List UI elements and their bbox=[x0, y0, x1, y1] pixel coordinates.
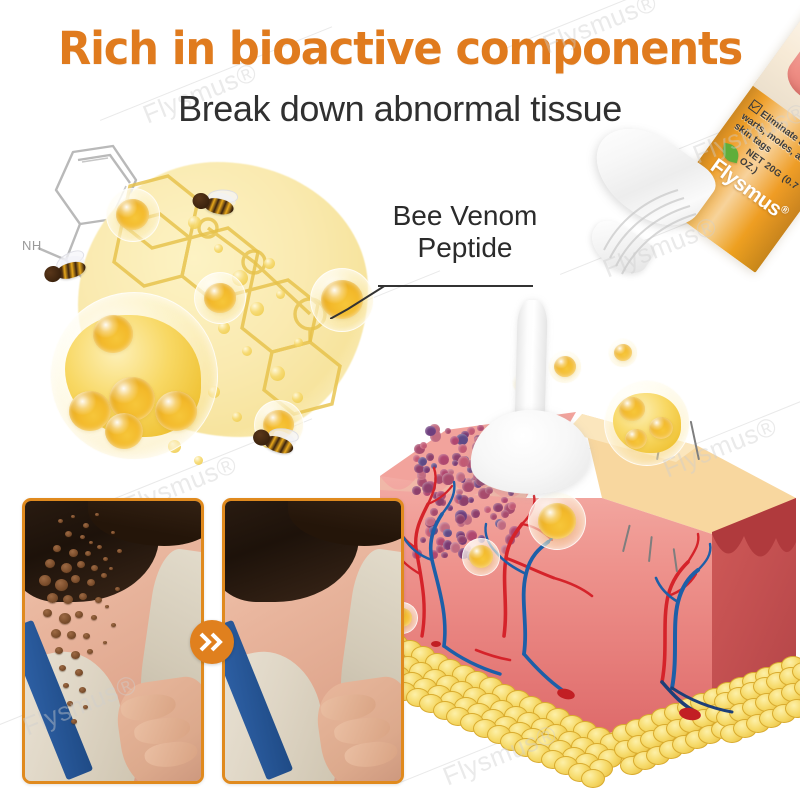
skin-lesion bbox=[39, 575, 51, 586]
skin-lesion bbox=[111, 623, 116, 627]
double-chevron-right-icon bbox=[199, 632, 225, 652]
honey-droplet bbox=[194, 456, 203, 465]
skin-lesion bbox=[87, 579, 95, 586]
skin-lesion bbox=[111, 531, 115, 534]
skin-lesion bbox=[77, 561, 85, 568]
abnormal-cell bbox=[425, 517, 435, 527]
callout-underline bbox=[378, 285, 533, 287]
skin-lesion bbox=[75, 669, 83, 676]
abnormal-cell bbox=[447, 505, 454, 512]
abnormal-cell bbox=[443, 529, 452, 538]
product-infographic: Flysmus®Flysmus®Flysmus®Flysmus®Flysmus®… bbox=[0, 0, 800, 800]
abnormal-cell bbox=[508, 502, 516, 510]
abnormal-cell bbox=[429, 526, 438, 535]
abnormal-cell bbox=[501, 510, 509, 518]
abnormal-cell bbox=[457, 535, 466, 544]
skin-lesion bbox=[103, 557, 108, 561]
skin-lesion bbox=[103, 641, 107, 644]
honey-droplet bbox=[292, 392, 303, 403]
skin-lesion bbox=[51, 629, 61, 638]
large-honey-sphere bbox=[604, 380, 690, 466]
abnormal-cell bbox=[485, 487, 492, 494]
callout-bee-venom-peptide: Bee Venom Peptide bbox=[370, 200, 560, 264]
skin-lesion bbox=[95, 513, 99, 516]
after-photo[interactable] bbox=[222, 498, 404, 784]
abnormal-cell bbox=[426, 453, 435, 462]
page-subtitle: Break down abnormal tissue bbox=[0, 88, 800, 130]
large-honey-sphere bbox=[50, 292, 218, 460]
abnormal-cell bbox=[456, 472, 465, 481]
nh-label: NH bbox=[22, 238, 42, 253]
skin-lesion bbox=[80, 535, 85, 539]
skin-lesion bbox=[75, 611, 83, 618]
callout-leader-line bbox=[330, 285, 386, 319]
skin-lesion bbox=[91, 615, 97, 620]
honey-sphere bbox=[528, 492, 586, 550]
skin-lesion bbox=[67, 701, 73, 706]
abnormal-cell bbox=[423, 466, 430, 473]
skin-lesion bbox=[91, 565, 98, 571]
skin-lesion bbox=[83, 705, 88, 709]
skin-lesion bbox=[89, 541, 93, 544]
skin-lesion bbox=[71, 719, 77, 724]
abnormal-cell bbox=[420, 537, 426, 543]
skin-lesion bbox=[58, 519, 63, 523]
abnormal-cell bbox=[438, 454, 448, 464]
abnormal-cell bbox=[431, 463, 437, 469]
abnormal-cell bbox=[501, 545, 509, 553]
abnormal-cell bbox=[442, 473, 453, 484]
abnormal-cell bbox=[420, 442, 427, 449]
honey-droplet bbox=[188, 216, 201, 229]
honey-droplet bbox=[264, 258, 275, 269]
skin-lesion bbox=[83, 523, 89, 528]
skin-lesion bbox=[105, 605, 109, 608]
honey-droplet bbox=[214, 244, 223, 253]
abnormal-cell bbox=[484, 506, 492, 514]
skin-lesion bbox=[87, 649, 93, 654]
skin-lesion bbox=[79, 593, 87, 600]
skin-lesion bbox=[83, 633, 90, 639]
skin-lesion bbox=[53, 545, 61, 552]
skin-lesion bbox=[95, 597, 102, 603]
abnormal-cell bbox=[458, 444, 467, 453]
honey-droplet bbox=[242, 346, 252, 356]
skin-lesion bbox=[55, 579, 68, 591]
skin-lesion bbox=[59, 665, 66, 671]
abnormal-cell bbox=[450, 436, 459, 445]
before-photo[interactable] bbox=[22, 498, 204, 784]
honey-droplet bbox=[250, 302, 264, 316]
callout-line-2: Peptide bbox=[370, 232, 560, 264]
skin-lesion bbox=[63, 595, 73, 604]
skin-lesion bbox=[45, 559, 55, 568]
skin-lesion bbox=[109, 567, 113, 570]
abnormal-cell bbox=[450, 542, 461, 553]
before-after-arrow-badge[interactable] bbox=[190, 620, 234, 664]
honey-sphere bbox=[462, 538, 500, 576]
skin-lesion bbox=[43, 609, 52, 617]
skin-lesion bbox=[115, 587, 120, 591]
abnormal-cell bbox=[441, 552, 447, 558]
skin-lesion bbox=[47, 593, 58, 603]
abnormal-cell bbox=[458, 456, 469, 467]
abnormal-cell bbox=[412, 486, 421, 495]
skin-lesion bbox=[97, 545, 102, 549]
skin-lesion bbox=[79, 687, 86, 693]
skin-lesion bbox=[117, 549, 122, 553]
abnormal-cell bbox=[452, 460, 458, 466]
tube-nozzle bbox=[582, 214, 657, 283]
fat-cell bbox=[581, 769, 605, 788]
honey-droplet bbox=[276, 290, 285, 299]
skin-lesion bbox=[67, 631, 76, 639]
abnormal-cell bbox=[422, 482, 433, 493]
skin-lesion bbox=[71, 515, 75, 518]
before-after-comparison bbox=[22, 498, 402, 780]
skin-lesion bbox=[101, 573, 107, 578]
skin-lesion bbox=[85, 551, 91, 556]
abnormal-cell bbox=[412, 549, 422, 559]
abnormal-cell bbox=[418, 457, 427, 466]
abnormal-cell bbox=[468, 497, 475, 504]
abnormal-cell bbox=[490, 513, 497, 520]
skin-lesion bbox=[63, 683, 69, 688]
honey-sphere bbox=[106, 188, 160, 242]
abnormal-cell bbox=[430, 508, 437, 515]
abnormal-cell bbox=[497, 520, 506, 529]
honey-droplet bbox=[294, 338, 303, 347]
callout-line-1: Bee Venom bbox=[370, 200, 560, 232]
skin-lesion bbox=[71, 651, 80, 659]
honey-droplet bbox=[232, 412, 242, 422]
honey-sphere bbox=[194, 272, 246, 324]
abnormal-cell bbox=[509, 526, 521, 538]
skin-lesion bbox=[69, 549, 78, 557]
skin-lesion bbox=[59, 613, 71, 624]
skin-lesion bbox=[61, 563, 72, 573]
abnormal-cell bbox=[445, 428, 451, 434]
abnormal-cell bbox=[425, 426, 435, 436]
abnormal-cell bbox=[462, 481, 473, 492]
honey-droplet bbox=[270, 366, 285, 381]
abnormal-cell bbox=[471, 509, 480, 518]
honey-sphere bbox=[548, 350, 582, 384]
honey-sphere bbox=[608, 338, 638, 368]
page-title: Rich in bioactive components bbox=[16, 22, 784, 75]
skin-lesion bbox=[55, 647, 63, 654]
skin-lesion bbox=[71, 575, 80, 583]
skin-lesion bbox=[65, 531, 72, 537]
